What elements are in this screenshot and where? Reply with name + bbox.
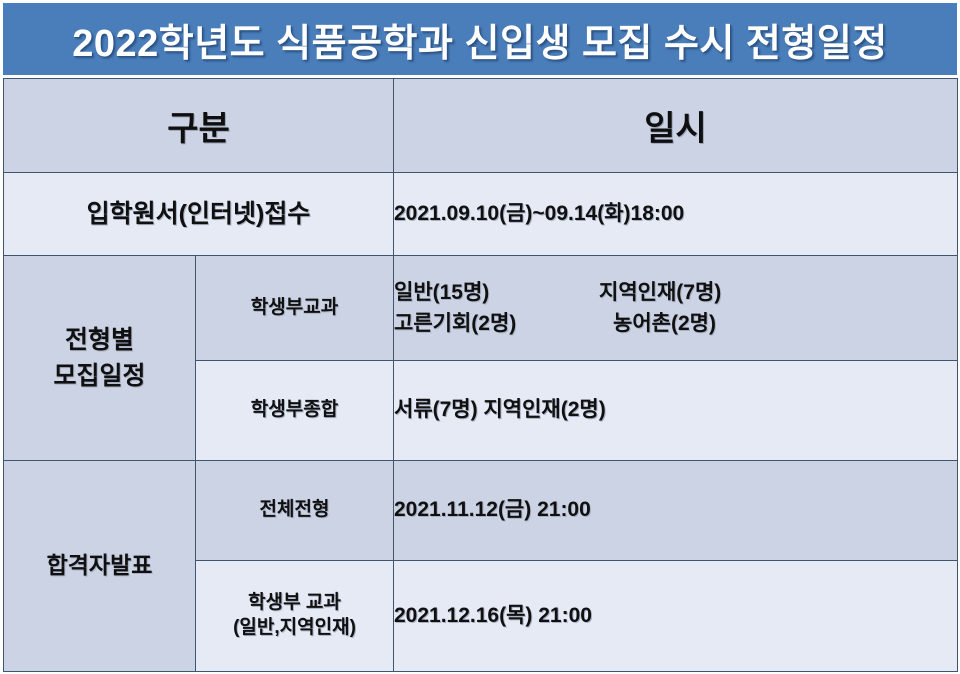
table-row: 전형별 모집일정 학생부교과 일반(15명)지역인재(7명) 고른기회(2명)농…: [4, 256, 958, 361]
sub-label-all-types: 전체전형: [196, 461, 394, 561]
quota-local-talent: 지역인재(7명): [599, 277, 721, 309]
quota-equal-opportunity: 고른기회(2명): [394, 308, 599, 340]
header-cell-category: 구분: [4, 79, 394, 173]
quota-general: 일반(15명): [394, 277, 599, 309]
header-label-schedule: 일시: [644, 110, 707, 148]
sub-label-line1: 학생부 교과: [248, 592, 341, 613]
row-label-application: 입학원서(인터넷)접수: [4, 173, 394, 256]
header-label-category: 구분: [167, 110, 230, 148]
table-row: 합격자발표 전체전형 2021.11.12(금) 21:00: [4, 461, 958, 561]
row-label-recruit-schedule: 전형별 모집일정: [4, 256, 196, 461]
poster-title-bar: 2022학년도 식품공학과 신입생 모집 수시 전형일정: [3, 3, 957, 75]
row-value-all-types: 2021.11.12(금) 21:00: [394, 461, 958, 561]
schedule-poster: 2022학년도 식품공학과 신입생 모집 수시 전형일정 구분 일시 입학원서(…: [0, 0, 960, 674]
table-row: 입학원서(인터넷)접수 2021.09.10(금)~09.14(화)18:00: [4, 173, 958, 256]
row-value-subject-general-local: 2021.12.16(목) 21:00: [394, 561, 958, 672]
row-value-student-record-subject: 일반(15명)지역인재(7명) 고른기회(2명)농어촌(2명): [394, 256, 958, 361]
admissions-schedule-table: 구분 일시 입학원서(인터넷)접수 2021.09.10(금)~09.14(화)…: [3, 78, 958, 672]
sub-label-student-record-comprehensive: 학생부종합: [196, 361, 394, 461]
row-label-recruit-line2: 모집일정: [53, 362, 145, 390]
table-header-row: 구분 일시: [4, 79, 958, 173]
value-line-1: 일반(15명)지역인재(7명): [394, 277, 957, 309]
row-label-recruit-line1: 전형별: [65, 326, 134, 354]
row-value-application: 2021.09.10(금)~09.14(화)18:00: [394, 173, 958, 256]
sub-label-subject-general-local: 학생부 교과 (일반,지역인재): [196, 561, 394, 672]
sub-label-line2: (일반,지역인재): [233, 617, 356, 638]
page-title: 2022학년도 식품공학과 신입생 모집 수시 전형일정: [72, 12, 888, 67]
row-value-student-record-comprehensive: 서류(7명) 지역인재(2명): [394, 361, 958, 461]
value-line-2: 고른기회(2명)농어촌(2명): [394, 308, 957, 340]
header-cell-schedule: 일시: [394, 79, 958, 173]
row-label-announcement: 합격자발표: [4, 461, 196, 672]
quota-rural: 농어촌(2명): [599, 308, 716, 340]
sub-label-student-record-subject: 학생부교과: [196, 256, 394, 361]
